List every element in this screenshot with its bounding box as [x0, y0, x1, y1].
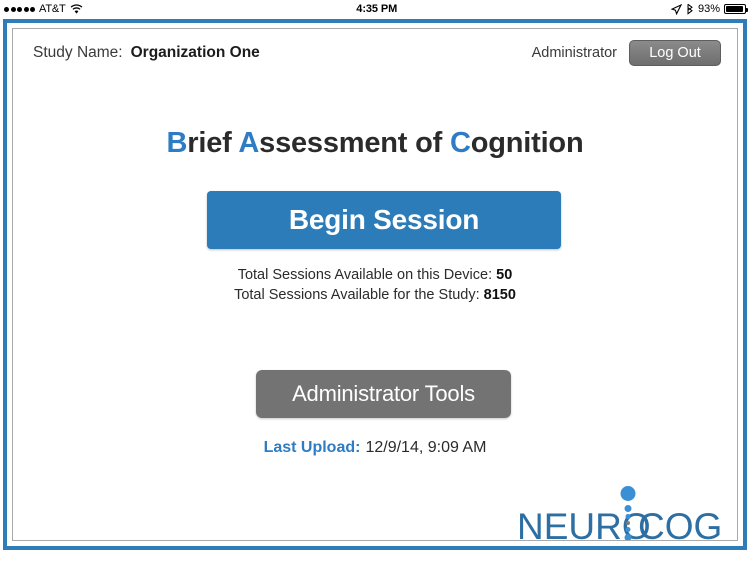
- begin-session-button[interactable]: Begin Session: [207, 191, 561, 249]
- app-content-area: Study Name: Organization One Administrat…: [12, 28, 738, 541]
- last-upload-value: 12/9/14, 9:09 AM: [365, 439, 486, 456]
- header-right-block: Administrator Log Out: [532, 40, 721, 66]
- app-window-frame: Study Name: Organization One Administrat…: [3, 19, 747, 550]
- logo-spine-dots-icon: [617, 486, 639, 541]
- sessions-for-study-row: Total Sessions Available for the Study: …: [13, 285, 737, 305]
- title-rest-3: ognition: [471, 127, 584, 159]
- last-upload-block: Last Upload:12/9/14, 9:09 AM: [13, 439, 737, 457]
- wifi-icon: [70, 4, 83, 15]
- privacy-security-statements-link[interactable]: Privacy/Security Statements: [13, 540, 737, 541]
- sessions-on-device-label: Total Sessions Available on this Device:: [238, 267, 492, 283]
- study-name-label: Study Name:: [33, 44, 123, 62]
- neurocog-logo: NEURO COG Reliable Responsive: [517, 484, 727, 541]
- status-bar-left: AT&T: [4, 3, 83, 15]
- carrier-label: AT&T: [39, 3, 66, 15]
- title-accent-c: C: [450, 127, 471, 159]
- ios-status-bar: AT&T 4:35 PM 93%: [0, 0, 750, 18]
- signal-strength-dots-icon: [4, 7, 35, 12]
- title-rest-1: rief: [187, 127, 238, 159]
- copyright-notice: © NeuroCogTrials, Inc., 2009, 2014: [33, 540, 237, 541]
- sessions-on-device-value: 50: [496, 267, 512, 283]
- title-rest-2: ssessment of: [259, 127, 450, 159]
- study-name-block: Study Name: Organization One: [33, 44, 532, 62]
- sessions-on-device-row: Total Sessions Available on this Device:…: [13, 265, 737, 285]
- status-bar-right: 93%: [671, 3, 746, 15]
- battery-percent-label: 93%: [698, 3, 720, 15]
- sessions-for-study-value: 8150: [484, 287, 516, 303]
- title-accent-b: B: [167, 127, 188, 159]
- title-accent-a: A: [238, 127, 259, 159]
- app-header: Study Name: Organization One Administrat…: [13, 29, 737, 77]
- sessions-for-study-label: Total Sessions Available for the Study:: [234, 287, 480, 303]
- last-upload-label: Last Upload:: [264, 439, 361, 456]
- administrator-tools-button[interactable]: Administrator Tools: [256, 370, 511, 418]
- log-out-button[interactable]: Log Out: [629, 40, 721, 66]
- bluetooth-icon: [686, 3, 694, 15]
- battery-icon: [724, 4, 746, 14]
- logo-word-cog: COG: [638, 508, 722, 541]
- study-name-value: Organization One: [131, 44, 260, 62]
- page-title: Brief Assessment of Cognition: [13, 127, 737, 160]
- status-bar-clock: 4:35 PM: [83, 3, 671, 15]
- session-availability-block: Total Sessions Available on this Device:…: [13, 265, 737, 305]
- location-arrow-icon: [671, 4, 682, 15]
- user-role-label: Administrator: [532, 45, 617, 61]
